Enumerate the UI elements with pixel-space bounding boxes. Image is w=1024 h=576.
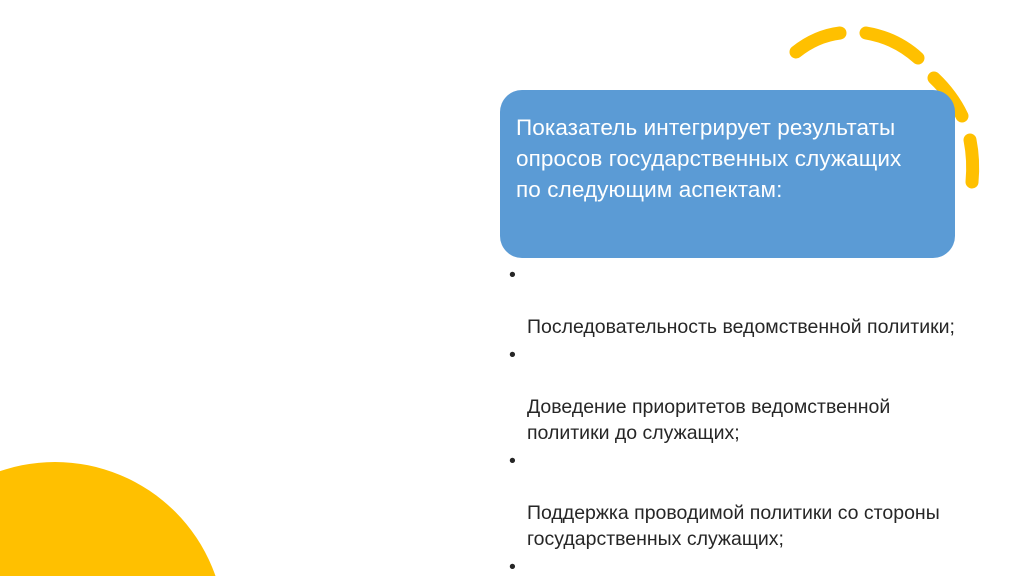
list-item-label: Последовательность ведомственной политик… (527, 316, 955, 338)
bullet-marker-icon: • (509, 262, 516, 288)
yellow-circle-decoration-icon (0, 462, 225, 576)
list-item: • Последовательность ведомственной полит… (500, 262, 960, 340)
list-item-label: Доведение приоритетов ведомственной поли… (527, 396, 890, 444)
arc-segment-2 (866, 33, 918, 58)
arc-segment-4 (970, 140, 973, 182)
bullet-list: • Последовательность ведомственной полит… (500, 262, 960, 576)
list-item-label: Поддержка проводимой политики со стороны… (527, 502, 940, 550)
arc-segment-1 (796, 33, 840, 52)
list-item: • Наличие политического вмешательства в … (500, 554, 960, 576)
title-text: Показатель интегрирует результаты опросо… (516, 112, 931, 205)
list-item: • Поддержка проводимой политики со сторо… (500, 448, 960, 552)
bullet-marker-icon: • (509, 448, 516, 474)
bullet-marker-icon: • (509, 342, 516, 368)
slide-canvas: Показатель интегрирует результаты опросо… (0, 0, 1024, 576)
bullet-marker-icon: • (509, 554, 516, 576)
title-callout-box: Показатель интегрирует результаты опросо… (500, 90, 955, 258)
list-item: • Доведение приоритетов ведомственной по… (500, 342, 960, 446)
